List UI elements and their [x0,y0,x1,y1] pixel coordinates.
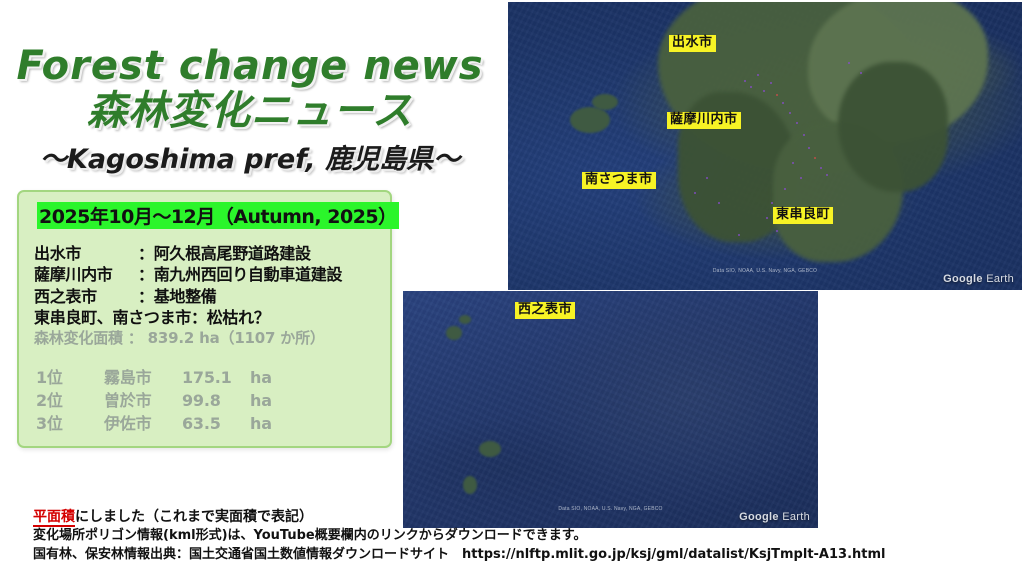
footer-notes: 平面積にしました（これまで実面積で表記） 変化場所ポリゴン情報(kml形式)は、… [33,508,933,565]
page-title-japanese: 森林変化ニュース [0,89,500,133]
rank-city: 曽於市 [104,390,182,413]
satellite-map-kagoshima[interactable]: Google Earth Data SIO, NOAA, U.S. Navy, … [508,2,1022,290]
ranking-list: 1位霧島市175.1ha 2位曽於市99.8ha 3位伊佐市63.5ha [36,367,390,435]
map-label-nishinoomote: 西之表市 [515,302,575,319]
rank-label: 3位 [36,413,104,436]
map-label-izumi: 出水市 [669,35,716,52]
rank-label: 1位 [36,367,104,390]
island-shape [459,315,471,324]
map-label-higashikushira: 東串良町 [773,207,833,224]
rank-unit: ha [250,413,272,436]
rank-unit: ha [250,367,272,390]
page-subtitle: 〜Kagoshima pref, 鹿児島県〜 [0,137,500,176]
note-line-1: 平面積にしました（これまで実面積で表記） [33,508,933,527]
city-name: 西之表市 [34,286,138,307]
project-description: 松枯れ？ [207,308,270,327]
source-url[interactable]: https://nlftp.mlit.go.jp/ksj/gml/datalis… [462,547,885,562]
satellite-map-nishinoomote[interactable]: Google Earth Data SIO, NOAA, U.S. Navy, … [403,291,818,528]
separator: ： [138,265,154,284]
slide-canvas: Forest change news 森林変化ニュース 〜Kagoshima p… [0,0,1024,576]
rank-unit: ha [250,390,272,413]
city-name: 薩摩川内市 [34,264,138,285]
list-item: 3位伊佐市63.5ha [36,413,390,436]
separator: ： [191,308,207,327]
project-description: 南九州西回り自動車道建設 [154,265,342,284]
list-item: 2位曽於市99.8ha [36,390,390,413]
island-shape [463,476,477,494]
note-line-3: 国有林、保安林情報出典：国土交通省国土数値情報ダウンロードサイト https:/… [33,546,933,565]
rank-label: 2位 [36,390,104,413]
project-description: 阿久根高尾野道路建設 [154,244,311,263]
map-label-minamisatsuma: 南さつま市 [582,172,656,189]
rank-value: 99.8 [182,390,250,413]
map-label-satsumasendai: 薩摩川内市 [667,112,741,129]
list-item: 薩摩川内市：南九州西回り自動車道建設 [34,264,390,285]
island-shape [446,326,462,340]
note-highlight-term: 平面積 [33,509,75,527]
list-item: 東串良町、南さつま市：松枯れ？ [34,307,390,328]
rank-value: 63.5 [182,413,250,436]
list-item: 1位霧島市175.1ha [36,367,390,390]
watermark-suffix: Earth [986,273,1014,285]
list-item: 出水市：阿久根高尾野道路建設 [34,243,390,264]
change-point-markers [508,2,1022,290]
note-rest: にしました（これまで実面積で表記） [75,509,313,525]
watermark-brand: Google [943,273,983,285]
note-source-prefix: 国有林、保安林情報出典：国土交通省国土数値情報ダウンロードサイト [33,547,462,562]
list-item: 西之表市：基地整備 [34,286,390,307]
map-data-credit: Data SIO, NOAA, U.S. Navy, NGA, GEBCO [713,268,817,274]
period-heading: 2025年10月〜12月（Autumn, 2025） [37,202,399,229]
rank-value: 175.1 [182,367,250,390]
separator: ： [138,244,154,263]
city-name: 出水市 [34,243,138,264]
rank-city: 霧島市 [104,367,182,390]
summary-panel: 2025年10月〜12月（Autumn, 2025） 出水市：阿久根高尾野道路建… [17,190,392,448]
page-title-english: Forest change news [0,46,500,87]
title-block: Forest change news 森林変化ニュース 〜Kagoshima p… [0,46,500,176]
total-area-line: 森林変化面積 ： 839.2 ha（1107 か所） [34,328,390,349]
google-earth-watermark: Google Earth [943,273,1014,285]
separator: ： [138,287,154,306]
island-shape [479,441,501,457]
city-name: 東串良町、南さつま市 [34,307,191,328]
city-project-list: 出水市：阿久根高尾野道路建設 薩摩川内市：南九州西回り自動車道建設 西之表市：基… [34,243,390,349]
note-line-2: 変化場所ポリゴン情報(kml形式)は、YouTube概要欄内のリンクからダウンロ… [33,527,933,546]
rank-city: 伊佐市 [104,413,182,436]
project-description: 基地整備 [154,287,217,306]
